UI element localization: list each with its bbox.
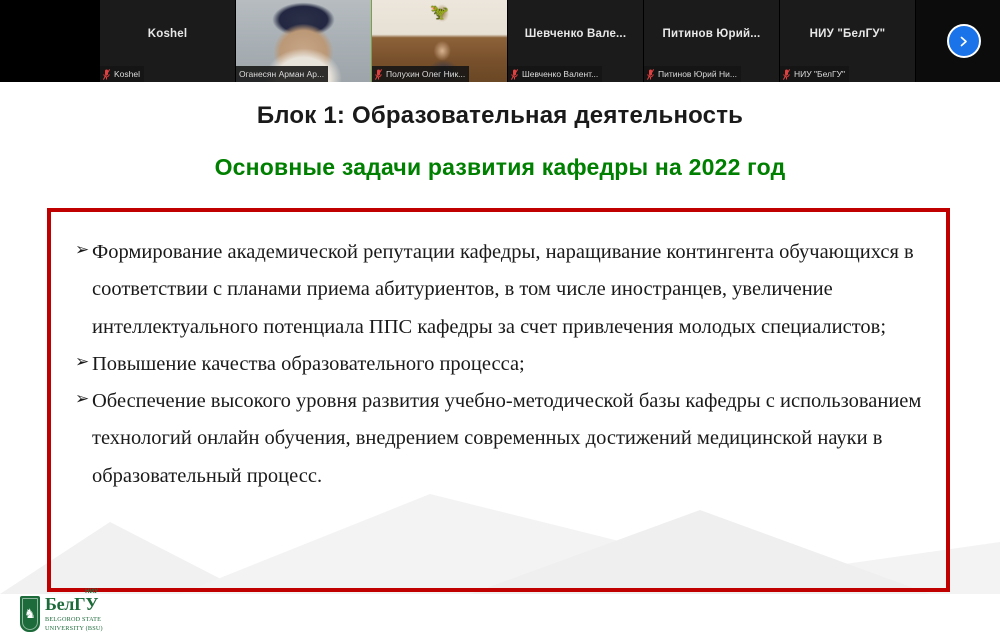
participant-footer-name: Оганесян Арман Ар... [239, 69, 324, 79]
participant-footer: НИУ "БелГУ" [780, 66, 849, 82]
list-item-text: Повышение качества образовательного проц… [92, 346, 926, 383]
participant-center-name: Питинов Юрий... [644, 28, 779, 40]
zoom-meeting-screen-share: Koshel Koshel Оганесян Арман Ар... [0, 0, 1000, 638]
participant-footer: Полухин Олег Ник... [372, 66, 469, 82]
arrow-bullet-icon: ➢ [75, 234, 92, 266]
participant-tile-belgu[interactable]: НИУ "БелГУ" НИУ "БелГУ" [780, 0, 916, 82]
participant-tile-polukhin[interactable]: 🦖 Полухин Олег Ник... [372, 0, 508, 82]
participant-footer-name: Koshel [114, 69, 140, 79]
mic-muted-icon [647, 69, 654, 80]
participant-footer-name: НИУ "БелГУ" [794, 69, 845, 79]
participant-footer: Шевченко Валент... [508, 66, 602, 82]
mic-muted-icon [103, 69, 110, 80]
participant-tile-koshel[interactable]: Koshel Koshel [100, 0, 236, 82]
participant-footer: Оганесян Арман Ар... [236, 66, 328, 82]
logo-subtitle-line1: BELGOROD STATE [45, 616, 103, 624]
list-item: ➢ Формирование академической репутации к… [75, 234, 926, 346]
arrow-bullet-icon: ➢ [75, 346, 92, 378]
list-item-text: Формирование академической репутации каф… [92, 234, 926, 346]
horse-glyph: ♞ [24, 607, 36, 620]
filmstrip-next-page-area [916, 0, 1000, 82]
participant-footer: Питинов Юрий Ни... [644, 66, 741, 82]
objectives-list: ➢ Формирование академической репутации к… [75, 234, 926, 495]
arrow-bullet-icon: ➢ [75, 383, 92, 415]
logo-name: БелГУ НИУ [45, 595, 98, 613]
logo-subtitle-line2: UNIVERSITY (BSU) [45, 625, 103, 633]
russian-coat-of-arms-icon: 🦖 [430, 5, 449, 20]
participant-footer-name: Шевченко Валент... [522, 69, 598, 79]
participant-center-name: Шевченко Вале... [508, 28, 643, 40]
logo-wordmark: БелГУ НИУ BELGOROD STATE UNIVERSITY (BSU… [45, 595, 103, 634]
participant-tile-pitinov[interactable]: Питинов Юрий... Питинов Юрий Ни... [644, 0, 780, 82]
participant-filmstrip: Koshel Koshel Оганесян Арман Ар... [0, 0, 1000, 82]
slide-subtitle: Основные задачи развития кафедры на 2022… [0, 154, 1000, 181]
filmstrip-left-padding [0, 0, 100, 82]
participant-footer: Koshel [100, 66, 144, 82]
participant-center-name: Koshel [100, 28, 235, 40]
list-item-text: Обеспечение высокого уровня развития уче… [92, 383, 926, 495]
content-box: ➢ Формирование академической репутации к… [47, 208, 950, 592]
chevron-right-icon [957, 35, 970, 48]
shared-slide: Блок 1: Образовательная деятельность Осн… [0, 82, 1000, 638]
next-page-button[interactable] [947, 24, 981, 58]
belgu-logo: ♞ БелГУ НИУ BELGOROD STATE UNIVERSITY (B… [20, 595, 103, 634]
list-item: ➢ Повышение качества образовательного пр… [75, 346, 926, 383]
logo-name-text: БелГУ [45, 594, 98, 614]
participant-footer-name: Полухин Олег Ник... [386, 69, 465, 79]
mic-muted-icon [511, 69, 518, 80]
participant-tile-shevchenko[interactable]: Шевченко Вале... Шевченко Валент... [508, 0, 644, 82]
participant-center-name: НИУ "БелГУ" [780, 28, 915, 40]
participant-tile-ohanesyan[interactable]: Оганесян Арман Ар... [236, 0, 372, 82]
mic-muted-icon [375, 69, 382, 80]
participant-footer-name: Питинов Юрий Ни... [658, 69, 737, 79]
mic-muted-icon [783, 69, 790, 80]
logo-niu-text: НИУ [85, 589, 98, 595]
slide-title: Блок 1: Образовательная деятельность [0, 102, 1000, 130]
list-item: ➢ Обеспечение высокого уровня развития у… [75, 383, 926, 495]
shield-horse-icon: ♞ [20, 596, 40, 632]
